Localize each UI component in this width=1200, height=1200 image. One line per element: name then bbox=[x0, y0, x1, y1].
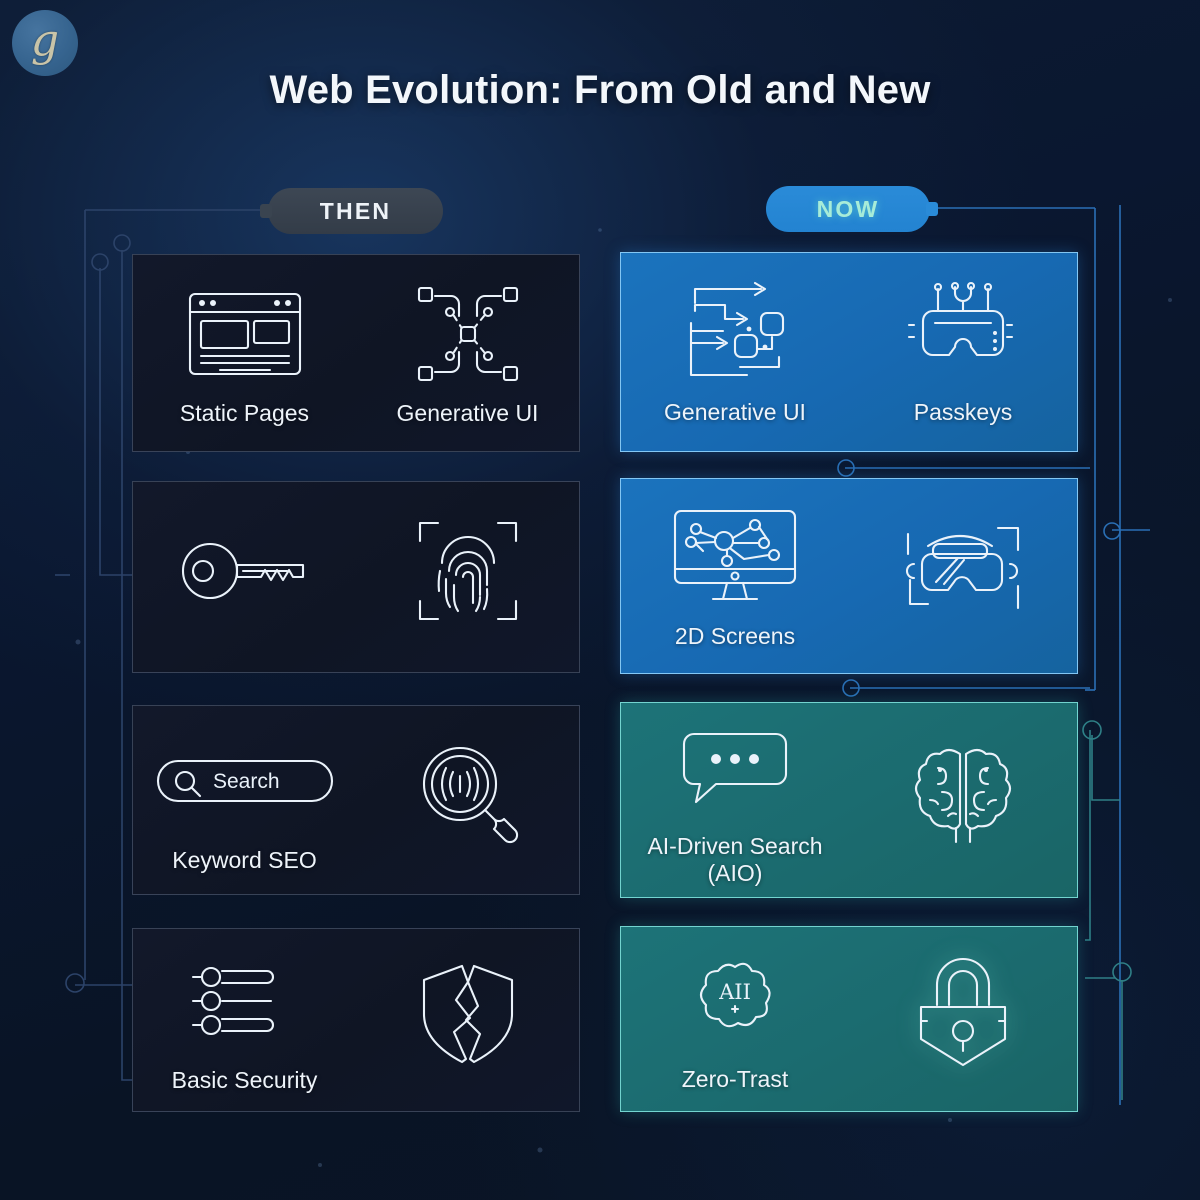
caption-generative-ui-now: Generative UI bbox=[664, 399, 806, 426]
cell-generative-ui-then: Generative UI bbox=[365, 280, 570, 427]
caption-passkeys: Passkeys bbox=[914, 399, 1012, 426]
comparison-grid: Static Pages bbox=[0, 0, 1200, 1200]
caption-generative-ui-then: Generative UI bbox=[397, 400, 539, 427]
key-icon bbox=[177, 517, 313, 625]
cell-brain bbox=[858, 740, 1068, 860]
cell-static-pages: Static Pages bbox=[142, 280, 347, 427]
card-now-row3[interactable]: AI-Driven Search (AIO) bbox=[620, 702, 1078, 898]
caption-zero-trast: Zero-Trast bbox=[682, 1066, 789, 1093]
cell-vr-headset bbox=[858, 516, 1068, 636]
flow-diagram-icon bbox=[677, 279, 793, 387]
cell-basic-security: Basic Security bbox=[142, 947, 347, 1094]
monitor-network-icon bbox=[669, 503, 801, 611]
fingerprint-scan-icon bbox=[416, 517, 520, 625]
ai-cloud-text: AII bbox=[718, 980, 751, 1004]
card-now-row1[interactable]: Generative UI Passkey bbox=[620, 252, 1078, 452]
caption-2d-screens: 2D Screens bbox=[675, 623, 795, 650]
sliders-settings-icon bbox=[191, 947, 299, 1055]
chat-bubble-dots-icon bbox=[680, 713, 790, 821]
cell-magnifier-signal bbox=[365, 740, 570, 860]
card-then-row1[interactable]: Static Pages bbox=[132, 254, 580, 452]
card-then-row3[interactable]: Search Keyword SEO bbox=[132, 705, 580, 895]
cell-2d-screens: 2D Screens bbox=[630, 503, 840, 650]
ai-cloud-icon: AII bbox=[688, 946, 782, 1054]
infographic-canvas: g Web Evolution: From Old and New THEN N… bbox=[0, 0, 1200, 1200]
generative-nodes-frame-icon bbox=[413, 280, 523, 388]
cell-key bbox=[142, 517, 347, 637]
padlock-glow-icon bbox=[911, 959, 1015, 1067]
cell-padlock bbox=[858, 959, 1068, 1079]
cell-ai-driven-search: AI-Driven Search (AIO) bbox=[630, 713, 840, 886]
caption-keyword-seo: Keyword SEO bbox=[172, 847, 316, 874]
search-bar-icon[interactable]: Search bbox=[155, 727, 335, 835]
broken-shield-icon bbox=[416, 960, 520, 1068]
brain-icon bbox=[908, 740, 1018, 848]
browser-window-icon bbox=[182, 280, 308, 388]
caption-static-pages: Static Pages bbox=[180, 400, 309, 427]
card-now-row4[interactable]: AII Zero-Trast bbox=[620, 926, 1078, 1112]
card-now-row2[interactable]: 2D Screens bbox=[620, 478, 1078, 674]
cell-zero-trast: AII Zero-Trast bbox=[630, 946, 840, 1093]
card-then-row4[interactable]: Basic Security bbox=[132, 928, 580, 1112]
cell-generative-ui-now: Generative UI bbox=[630, 279, 840, 426]
cell-fingerprint bbox=[365, 517, 570, 637]
magnifier-signal-icon bbox=[416, 740, 520, 848]
cell-passkeys: Passkeys bbox=[858, 279, 1068, 426]
vr-headset-scan-icon bbox=[900, 516, 1026, 624]
cell-keyword-seo: Search Keyword SEO bbox=[142, 727, 347, 874]
caption-basic-security: Basic Security bbox=[172, 1067, 318, 1094]
card-then-row2[interactable] bbox=[132, 481, 580, 673]
caption-ai-driven-search: AI-Driven Search (AIO) bbox=[647, 833, 822, 886]
passkey-device-icon bbox=[903, 279, 1023, 387]
search-placeholder-text: Search bbox=[213, 770, 280, 793]
cell-broken-shield bbox=[365, 960, 570, 1080]
